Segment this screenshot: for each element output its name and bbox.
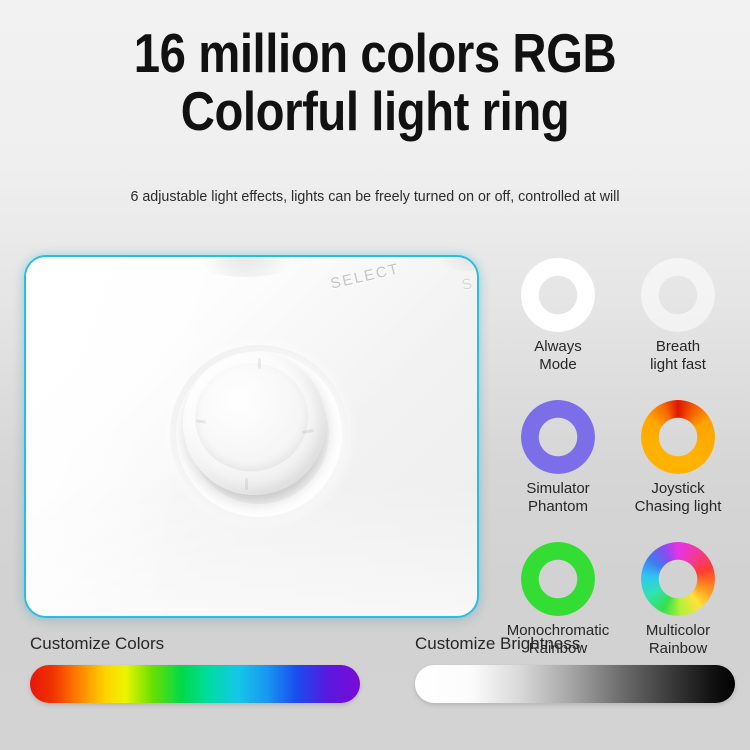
row-spacer <box>498 516 738 542</box>
effect-simulator-phantom[interactable]: Simulator Phantom <box>498 400 618 516</box>
joystick-seam <box>245 478 248 490</box>
effect-label-line-2: light fast <box>650 356 706 373</box>
customize-colors-group: Customize Colors <box>30 634 360 703</box>
effect-label: Always Mode <box>534 338 582 374</box>
effect-label-line-2: Mode <box>539 356 577 373</box>
ring-simulator-phantom-icon <box>521 400 595 474</box>
ring-monochromatic-rainbow-icon <box>521 542 595 616</box>
effect-label: Simulator Phantom <box>526 480 589 516</box>
shell-dent-right <box>430 255 479 271</box>
effect-label-line-2: Phantom <box>528 498 588 515</box>
ring-always-mode-icon <box>521 258 595 332</box>
color-slider[interactable] <box>30 665 360 703</box>
promo-page: 16 million colors RGB Colorful light rin… <box>0 0 750 750</box>
ring-joystick-chasing-light-icon <box>641 400 715 474</box>
effect-label-line-1: Joystick <box>651 480 704 497</box>
ring-breath-light-fast-icon <box>641 258 715 332</box>
page-subtitle: 6 adjustable light effects, lights can b… <box>19 186 732 208</box>
ring-multicolor-rainbow-icon <box>641 542 715 616</box>
light-effects-row-2: Simulator Phantom Joystick Chasing light <box>498 400 738 516</box>
customize-brightness-group: Customize Brightness <box>415 634 735 703</box>
customize-brightness-label: Customize Brightness <box>415 634 735 654</box>
shell-dent-left <box>186 255 306 277</box>
brightness-slider[interactable] <box>415 665 735 703</box>
effect-label-line-2: Chasing light <box>635 498 722 515</box>
effect-breath-light-fast[interactable]: Breath light fast <box>618 258 738 374</box>
headline-line-1: 16 million colors RGB <box>134 22 616 84</box>
effect-always-mode[interactable]: Always Mode <box>498 258 618 374</box>
row-spacer <box>498 374 738 400</box>
customize-colors-label: Customize Colors <box>30 634 360 654</box>
effect-joystick-chasing-light[interactable]: Joystick Chasing light <box>618 400 738 516</box>
page-title: 16 million colors RGB Colorful light rin… <box>53 24 698 140</box>
effect-label: Joystick Chasing light <box>635 480 722 516</box>
effect-label-line-1: Always <box>534 338 582 355</box>
effect-label: Breath light fast <box>650 338 706 374</box>
light-effects-row-1: Always Mode Breath light fast <box>498 258 738 374</box>
light-effects-grid: Always Mode Breath light fast Simulator … <box>498 258 738 658</box>
joystick-seam <box>258 358 261 369</box>
effect-label-line-1: Breath <box>656 338 700 355</box>
effect-label-line-1: Simulator <box>526 480 589 497</box>
headline-line-2: Colorful light ring <box>53 82 698 140</box>
